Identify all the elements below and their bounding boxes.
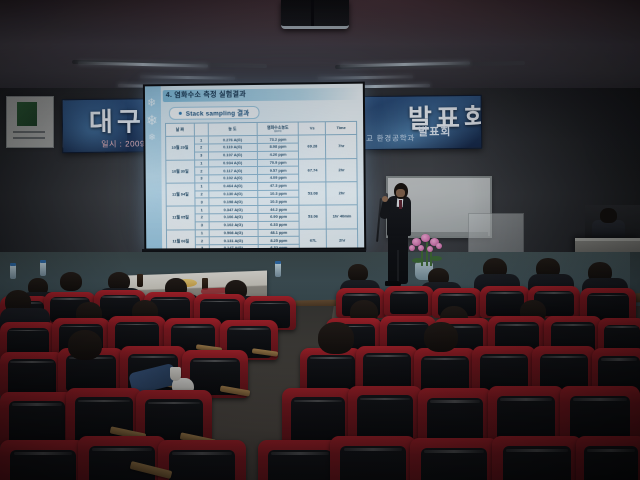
cell-vs: 67.74 bbox=[299, 158, 326, 182]
presenter-leg-split bbox=[397, 250, 399, 282]
cell-number: 3 bbox=[195, 245, 209, 249]
cell-vs: 69.28 bbox=[299, 135, 326, 159]
col-hcl: 염화수소농도 (ppm) bbox=[257, 122, 299, 136]
presenter-hand bbox=[382, 196, 388, 202]
cell-number: 3 bbox=[195, 222, 209, 230]
auditorium-seat[interactable] bbox=[384, 286, 434, 316]
audience-head bbox=[424, 322, 458, 352]
cola-bottle bbox=[137, 274, 143, 287]
cell-number: 3 bbox=[194, 152, 208, 160]
cell-number: 3 bbox=[194, 175, 208, 183]
cell-concentration: 0.147 A(G) bbox=[209, 245, 258, 249]
presenter-tie bbox=[399, 200, 402, 209]
orchid-flower bbox=[421, 234, 430, 242]
cell-number: 2 bbox=[194, 144, 208, 152]
snowflake-icon: ❄ bbox=[146, 112, 158, 129]
orchid-flower bbox=[409, 245, 415, 251]
podium-person-head bbox=[600, 208, 617, 223]
cell-hcl-ppm: 6.32 ppm bbox=[258, 244, 300, 248]
cell-number: 2 bbox=[194, 167, 208, 175]
slide-bullet-box: Stack sampling 결과 bbox=[169, 106, 260, 120]
auditorium-seat[interactable] bbox=[410, 438, 498, 480]
wall-poster bbox=[6, 96, 54, 148]
auditorium-seat[interactable] bbox=[576, 436, 640, 480]
cell-number: 2 bbox=[195, 191, 209, 199]
bottle-cap bbox=[40, 260, 46, 263]
water-bottle bbox=[275, 263, 281, 277]
snowflake-icon: ❄ bbox=[147, 96, 156, 109]
cell-time: 2hr bbox=[326, 182, 357, 206]
coffee-cup bbox=[170, 367, 181, 381]
cell-hcl-ppm: 8.25 ppm bbox=[258, 237, 300, 245]
auditorium-seat[interactable] bbox=[0, 440, 86, 480]
auditorium-photo: 대구대 발표회 대구 발표회 일시 : 2009. 11. 20(금) 대구대학… bbox=[0, 0, 640, 480]
col-date: 날 짜 bbox=[166, 123, 195, 136]
cell-number: 1 bbox=[194, 159, 208, 167]
slide-bullet-text: Stack sampling 결과 bbox=[186, 108, 250, 118]
flower-leaf bbox=[430, 256, 442, 261]
col-time: Time bbox=[326, 121, 357, 135]
cell-number: 3 bbox=[195, 198, 209, 206]
auditorium-seat[interactable] bbox=[492, 436, 582, 480]
cell-number: 2 bbox=[195, 237, 209, 245]
orchid-flower bbox=[436, 243, 442, 249]
col-vs: Vs bbox=[299, 122, 326, 136]
flower-leaf bbox=[412, 258, 424, 263]
cell-vs: 67L bbox=[300, 229, 327, 249]
cell-vs: 53.06 bbox=[299, 205, 326, 229]
slide-title: 4. 염화수소 측정 실험결과 bbox=[166, 89, 246, 100]
audience-head bbox=[60, 272, 82, 291]
cell-time: 1hr 40min bbox=[326, 205, 357, 229]
table-body: 10월 29일10.276 A(G)73.2 ppm69.287hr20.119… bbox=[166, 135, 358, 249]
projection-screen: ❄ ❄ ❄ 4. 염화수소 측정 실험결과 Stack sampling 결과 … bbox=[143, 82, 366, 252]
auditorium-seat[interactable] bbox=[330, 436, 416, 480]
orchid-flower bbox=[427, 246, 433, 252]
cell-number: 1 bbox=[195, 206, 209, 214]
water-bottle bbox=[40, 262, 46, 276]
col-hcl-unit: (ppm) bbox=[257, 129, 298, 132]
cell-hcl-ppm: 6.33 ppm bbox=[258, 221, 300, 229]
cell-vs: 53.08 bbox=[299, 182, 326, 206]
col-number bbox=[194, 123, 208, 136]
stack-sampling-table: 날 짜 농 도 염화수소농도 (ppm) Vs Time 10월 29일10.2… bbox=[165, 121, 358, 249]
cell-number: 1 bbox=[195, 183, 209, 191]
cell-date: 10월 29일 bbox=[166, 136, 195, 160]
cell-number: 1 bbox=[194, 136, 208, 144]
bottle-cap bbox=[10, 263, 16, 266]
audience-head bbox=[68, 330, 102, 360]
cell-time: 2hr bbox=[326, 158, 357, 182]
cell-number: 1 bbox=[195, 229, 209, 237]
col-concentration: 농 도 bbox=[208, 122, 257, 136]
cell-date: 10월 30일 bbox=[166, 160, 195, 184]
ceiling-projector bbox=[281, 0, 349, 29]
cell-date: 11월 06일 bbox=[166, 229, 195, 248]
orchid-flower bbox=[418, 245, 424, 251]
cell-date: 11월 05일 bbox=[166, 206, 195, 229]
banner-subtitle-right: 발표회 bbox=[418, 123, 452, 139]
slide-sidebar: ❄ ❄ ❄ bbox=[145, 86, 162, 248]
cell-number: 2 bbox=[195, 214, 209, 222]
cell-time: 2hr bbox=[327, 228, 358, 248]
audience-head bbox=[318, 322, 354, 354]
presenter-face bbox=[396, 189, 405, 197]
bottle-cap bbox=[275, 261, 281, 264]
presentation-slide: ❄ ❄ ❄ 4. 염화수소 측정 실험결과 Stack sampling 결과 … bbox=[145, 84, 364, 249]
cell-hcl-ppm: 48.1 ppm bbox=[258, 229, 300, 237]
water-bottle bbox=[10, 265, 16, 279]
bullet-dot-icon bbox=[179, 112, 182, 115]
cell-date: 11월 04일 bbox=[166, 183, 195, 206]
cell-time: 7hr bbox=[326, 135, 357, 159]
snowflake-icon: ❄ bbox=[148, 132, 156, 143]
